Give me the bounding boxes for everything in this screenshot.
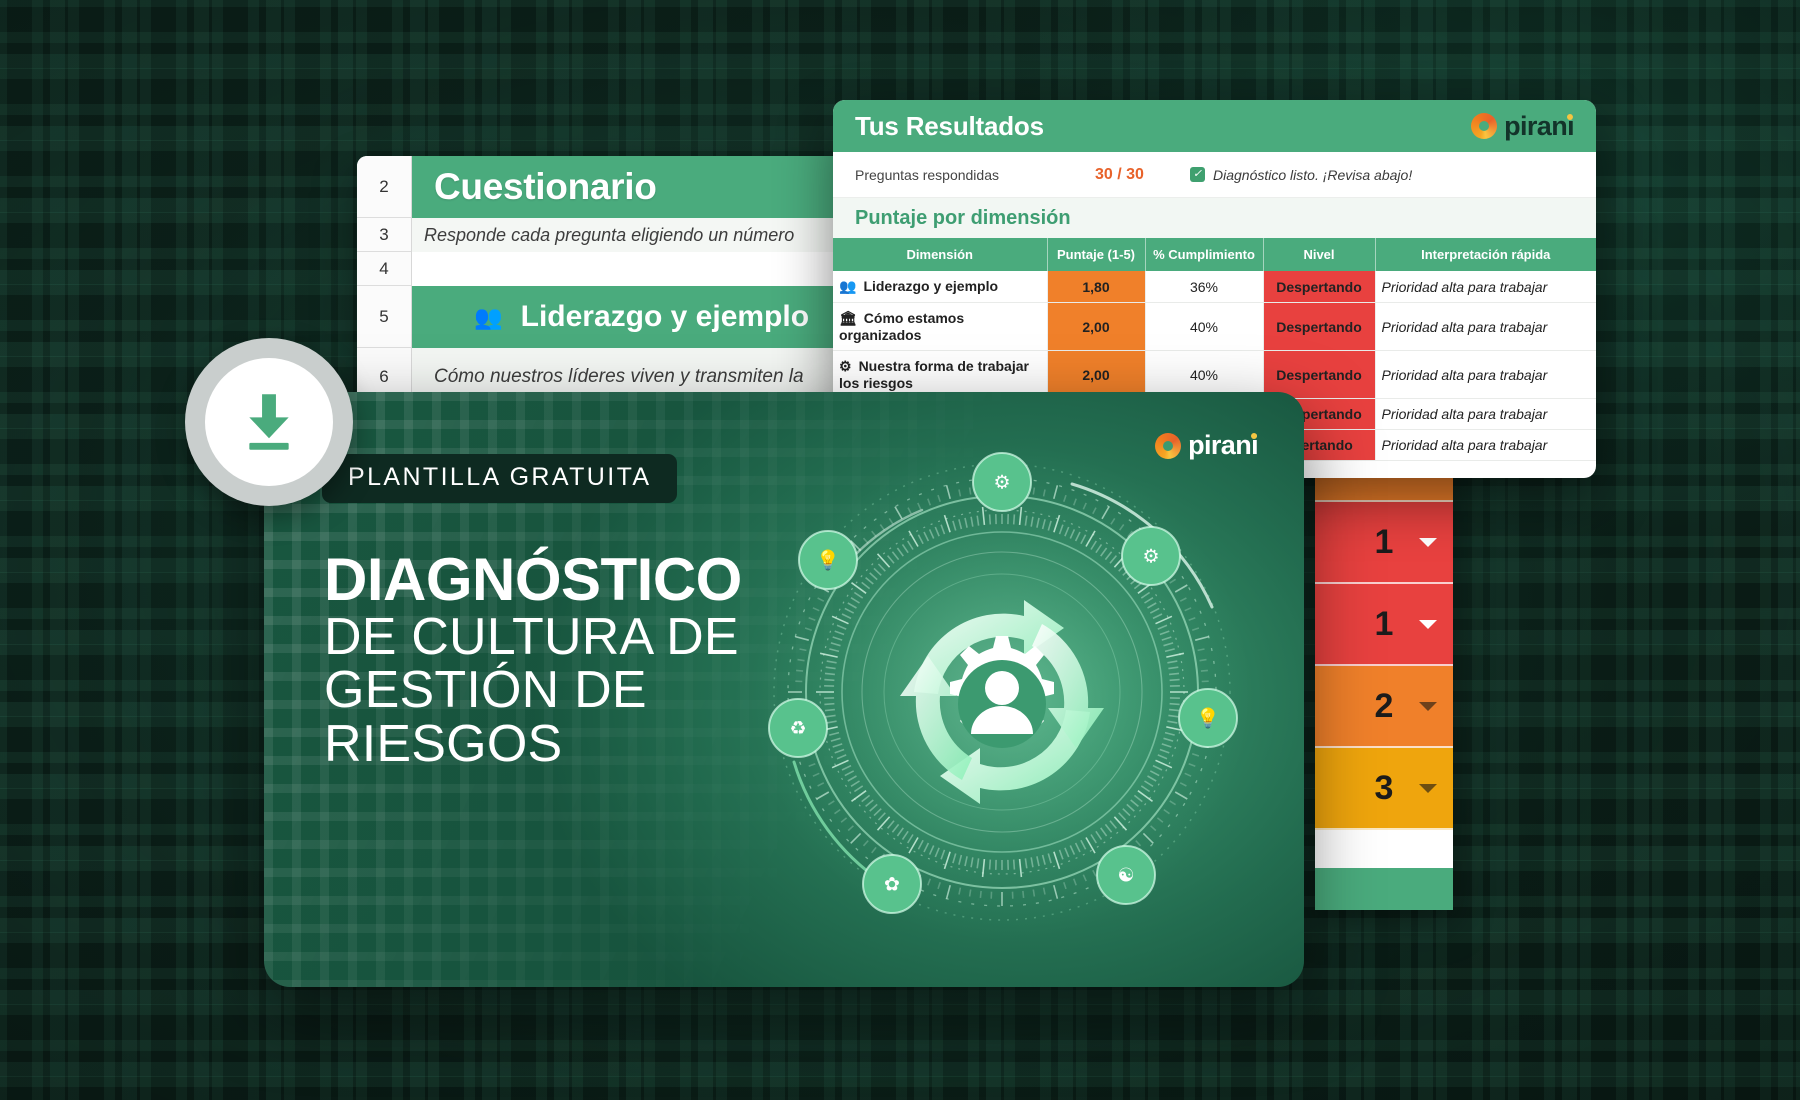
svg-text:♻: ♻	[789, 719, 806, 740]
cell-interpretation: Prioridad alta para trabajar	[1375, 399, 1596, 430]
results-meta-row: Preguntas respondidas 30 / 30 ✓ Diagnóst…	[833, 152, 1596, 198]
answer-cell-footer	[1315, 868, 1453, 910]
cell-score: 1,80	[1047, 271, 1145, 303]
people-icon: 👥	[839, 278, 856, 294]
col-compliance: % Cumplimiento	[1145, 238, 1263, 271]
people-icon: 👥	[474, 304, 503, 331]
answer-dropdown-column: 2 1 1 2 3	[1315, 420, 1453, 910]
answered-label: Preguntas respondidas	[855, 167, 1095, 183]
answer-cell[interactable]: 1	[1315, 584, 1453, 666]
row-number: 5	[357, 286, 411, 348]
free-template-badge: PLANTILLA GRATUITA	[322, 454, 677, 503]
questionnaire-title-bar: Cuestionario	[412, 156, 877, 218]
table-row: 👥Liderazgo y ejemplo 1,80 36% Despertand…	[833, 271, 1596, 303]
chevron-down-icon[interactable]	[1419, 538, 1437, 547]
cell-dimension: 👥Liderazgo y ejemplo	[833, 271, 1047, 303]
questionnaire-subtitle: Responde cada pregunta eligiendo un núme…	[412, 218, 877, 252]
cell-compliance: 36%	[1145, 271, 1263, 303]
chevron-down-icon[interactable]	[1419, 702, 1437, 711]
questionnaire-title: Cuestionario	[434, 166, 657, 208]
results-table-header-row: Dimensión Puntaje (1-5) % Cumplimiento N…	[833, 238, 1596, 271]
gear-icon: ⚙	[839, 358, 852, 374]
answer-value: 3	[1375, 769, 1394, 808]
col-interpretation: Interpretación rápida	[1375, 238, 1596, 271]
svg-text:☯: ☯	[1117, 866, 1134, 887]
answer-value: 1	[1375, 605, 1394, 644]
cell-compliance: 40%	[1145, 303, 1263, 351]
row-number: 2	[357, 156, 411, 218]
cell-interpretation: Prioridad alta para trabajar	[1375, 303, 1596, 351]
svg-text:⚙: ⚙	[993, 473, 1010, 494]
col-dimension: Dimensión	[833, 238, 1047, 271]
cell-interpretation: Prioridad alta para trabajar	[1375, 271, 1596, 303]
answered-count: 30 / 30	[1095, 166, 1190, 184]
answer-cell[interactable]: 1	[1315, 502, 1453, 584]
cell-dimension: 🏛Cómo estamos organizados	[833, 303, 1047, 351]
answer-cell[interactable]: 3	[1315, 748, 1453, 830]
answer-value: 2	[1375, 687, 1394, 726]
results-header: Tus Resultados pirani	[833, 100, 1596, 152]
table-row: 🏛Cómo estamos organizados 2,00 40% Despe…	[833, 303, 1596, 351]
svg-text:💡: 💡	[1196, 707, 1220, 730]
pirani-wordmark: pirani	[1504, 111, 1574, 142]
cell-score: 2,00	[1047, 303, 1145, 351]
answer-cell-empty	[1315, 830, 1453, 868]
col-score: Puntaje (1-5)	[1047, 238, 1145, 271]
spacer-row	[412, 252, 877, 286]
check-square-icon: ✓	[1190, 167, 1205, 182]
pirani-ring-icon	[1471, 113, 1497, 139]
svg-text:💡: 💡	[816, 549, 840, 572]
answer-value: 1	[1375, 523, 1394, 562]
status-text: Diagnóstico listo. ¡Revisa abajo!	[1213, 167, 1412, 183]
hero-card: pirani PLANTILLA GRATUITA DIAGNÓSTICO DE…	[264, 392, 1304, 987]
chevron-down-icon[interactable]	[1419, 620, 1437, 629]
pirani-logo: pirani	[1471, 111, 1574, 142]
download-arrow-icon	[232, 385, 306, 459]
results-title: Tus Resultados	[855, 111, 1044, 142]
cell-interpretation: Prioridad alta para trabajar	[1375, 430, 1596, 461]
dimension-header-row: 👥 Liderazgo y ejemplo	[412, 286, 877, 348]
col-level: Nivel	[1263, 238, 1375, 271]
status-badge: Despertando	[1263, 303, 1375, 351]
status-message: ✓ Diagnóstico listo. ¡Revisa abajo!	[1190, 167, 1412, 183]
answer-cell[interactable]: 2	[1315, 666, 1453, 748]
questionnaire-sheet: 2 3 4 5 6 Cuestionario Responde cada pre…	[357, 156, 877, 406]
dimension-title: Liderazgo y ejemplo	[521, 300, 809, 334]
chevron-down-icon[interactable]	[1419, 784, 1437, 793]
svg-text:⚙: ⚙	[1142, 547, 1159, 568]
status-badge: Despertando	[1263, 271, 1375, 303]
bank-icon: 🏛	[839, 310, 857, 326]
risk-culture-gear-person-graphic: ⚙ ⚙ 💡 ☯ ✿	[742, 432, 1262, 952]
results-section-title: Puntaje por dimensión	[833, 198, 1596, 238]
download-badge[interactable]	[185, 338, 353, 506]
row-number-gutter: 2 3 4 5 6	[357, 156, 412, 406]
download-badge-inner	[205, 358, 333, 486]
row-number: 4	[357, 252, 411, 286]
row-number: 3	[357, 218, 411, 252]
cell-interpretation: Prioridad alta para trabajar	[1375, 351, 1596, 399]
svg-text:✿: ✿	[884, 875, 900, 896]
